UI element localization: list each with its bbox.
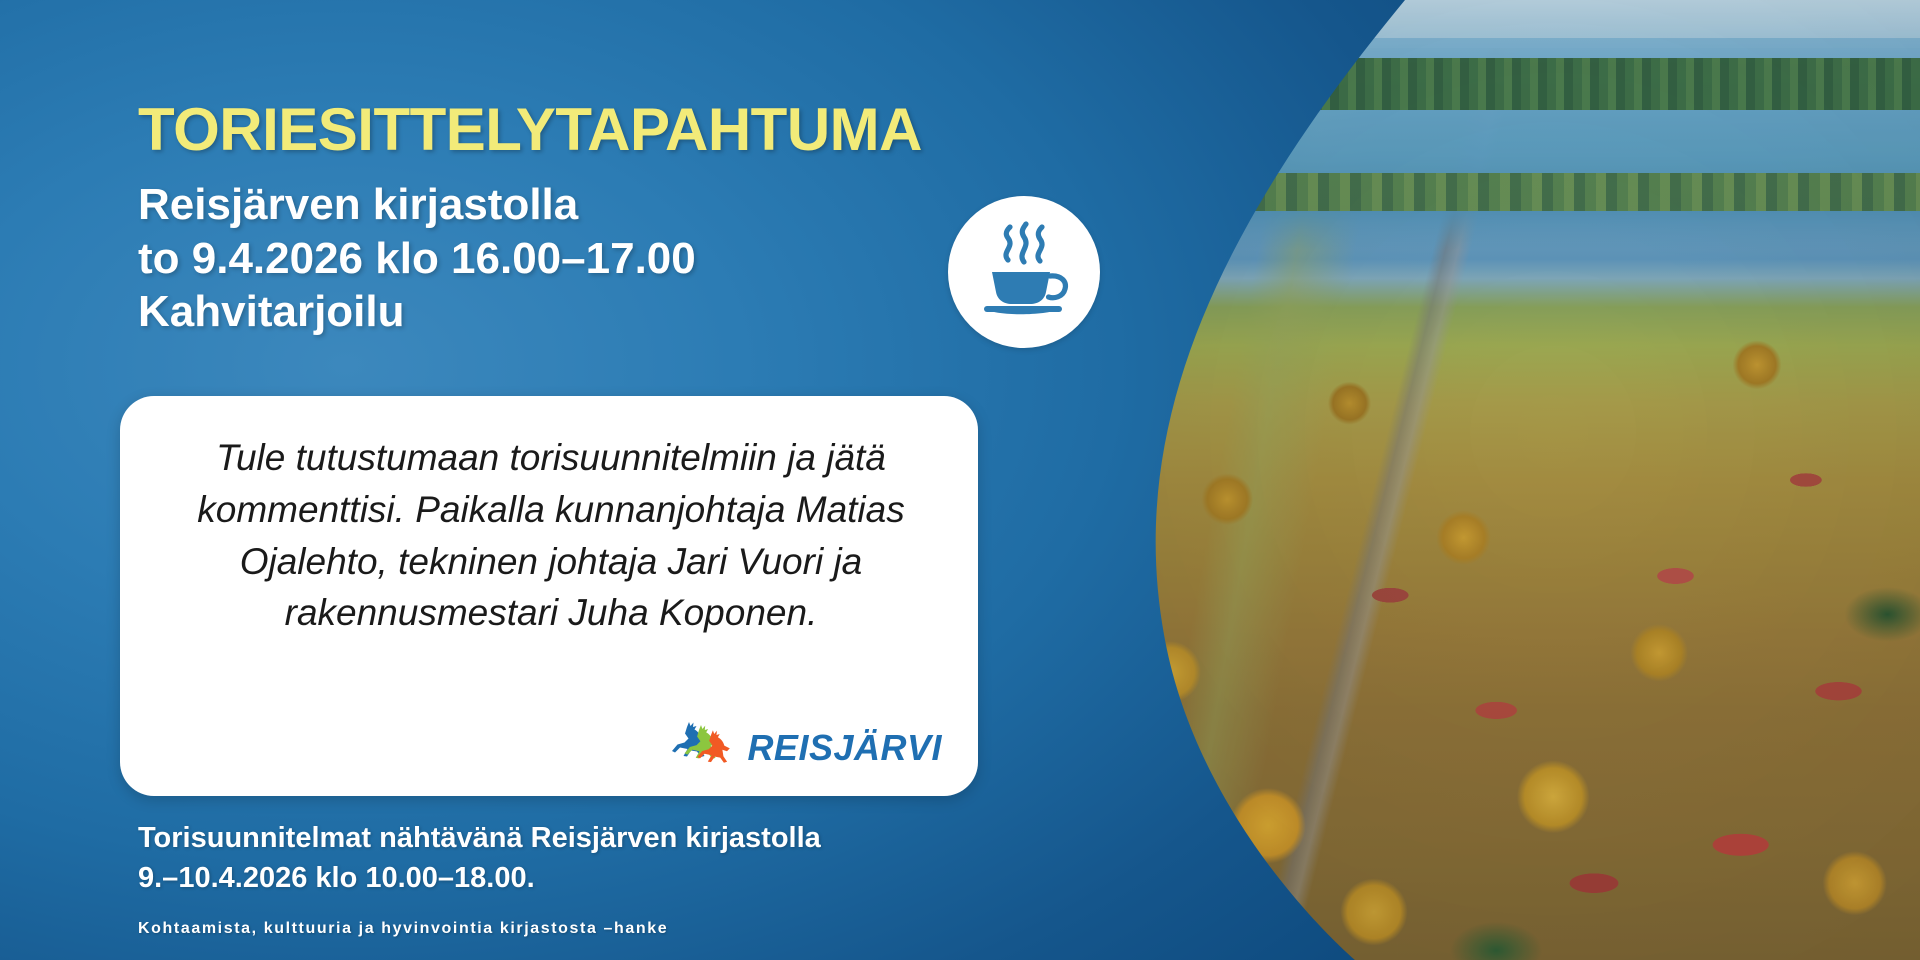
reisjarvi-logo: REISJÄRVI: [669, 721, 942, 774]
three-leaping-deer-icon: [669, 721, 739, 774]
project-credit: Kohtaamista, kulttuuria ja hyvinvointia …: [138, 920, 668, 938]
logo-wordmark: REISJÄRVI: [747, 727, 942, 769]
poster-content: TORIESITTELYTAPAHTUMA Reisjärven kirjast…: [0, 0, 1060, 960]
event-details: Reisjärven kirjastolla to 9.4.2026 klo 1…: [138, 178, 696, 339]
photo-color-grade-overlay: [1105, 0, 1920, 960]
event-poster: TORIESITTELYTAPAHTUMA Reisjärven kirjast…: [0, 0, 1920, 960]
page-title: TORIESITTELYTAPAHTUMA: [138, 95, 922, 164]
coffee-cup-icon: [972, 220, 1076, 324]
exhibition-note: Torisuunnitelmat nähtävänä Reisjärven ki…: [138, 818, 821, 898]
description-text: Tule tutustumaan torisuunnitelmiin ja jä…: [164, 432, 938, 639]
description-card: Tule tutustumaan torisuunnitelmiin ja jä…: [120, 396, 978, 796]
village-aerial-photo: [1105, 0, 1920, 960]
coffee-badge: [948, 196, 1100, 348]
